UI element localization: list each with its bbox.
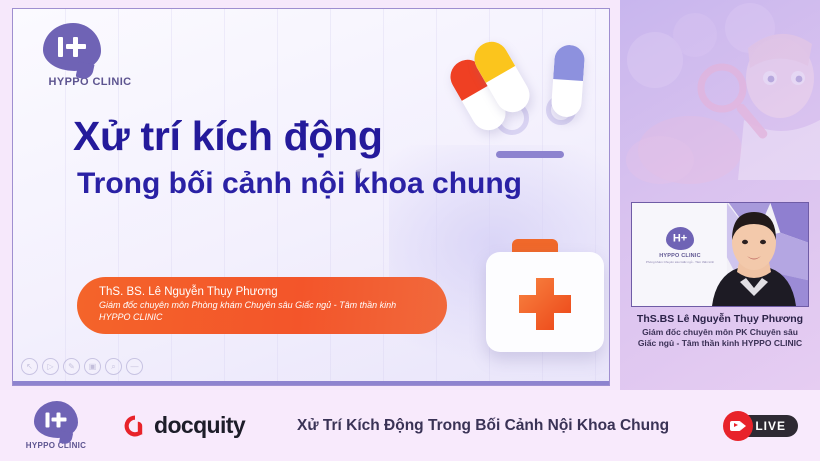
live-badge: LIVE: [729, 415, 798, 437]
live-camera-icon: [723, 411, 753, 441]
capsule-blue-icon: [551, 44, 586, 118]
eraser-tool-icon[interactable]: ▣: [84, 358, 101, 375]
pills-illustration: [443, 29, 610, 139]
session-title: Xử Trí Kích Động Trong Bối Cảnh Nội Khoa…: [297, 417, 729, 435]
presenter-caption: ThS.BS Lê Nguyễn Thụy Phương Giám đốc ch…: [620, 313, 820, 350]
h-plus-mark-icon: H+: [673, 233, 687, 244]
slide-annotation-toolbar[interactable]: ↖ ▷ ✎ ▣ ⌕ —: [21, 358, 143, 375]
speaker-role-line-2: HYPPO CLINIC: [99, 311, 429, 323]
presenter-caption-role-2: Giấc ngủ - Tâm thần kinh HYPPO CLINIC: [620, 338, 820, 349]
presenter-video-figure: [706, 206, 802, 306]
presenter-caption-role-1: Giám đốc chuyên môn PK Chuyên sâu: [620, 327, 820, 338]
speaker-banner: ThS. BS. Lê Nguyễn Thụy Phương Giám đốc …: [77, 277, 447, 334]
hyppo-bubble-icon: [34, 401, 78, 438]
bottom-clinic-logo-label: HYPPO CLINIC: [8, 441, 104, 450]
slide-title: Xử trí kích động: [73, 113, 383, 160]
webinar-stream-screen: HYPPO CLINIC Xử trí kích động Trong bối …: [0, 0, 820, 461]
speaker-name: ThS. BS. Lê Nguyễn Thụy Phương: [99, 286, 429, 298]
hyppo-bubble-icon: [43, 23, 101, 71]
slide-clinic-logo-label: HYPPO CLINIC: [35, 76, 145, 88]
slide-stage: HYPPO CLINIC Xử trí kích động Trong bối …: [0, 0, 620, 390]
decorative-dash: [496, 151, 564, 158]
h-plus-mark-icon: [46, 412, 67, 427]
cursor-tool-icon[interactable]: ↖: [21, 358, 38, 375]
presentation-slide[interactable]: HYPPO CLINIC Xử trí kích động Trong bối …: [12, 8, 610, 386]
docquity-logo: docquity: [122, 412, 245, 439]
first-aid-kit-icon: [486, 239, 606, 359]
minus-tool-icon[interactable]: —: [126, 358, 143, 375]
speaker-role-line-1: Giám đốc chuyên môn Phòng khám Chuyên sâ…: [99, 299, 429, 311]
hyppo-bubble-icon: H+: [666, 227, 694, 250]
presenter-caption-name: ThS.BS Lê Nguyễn Thụy Phương: [620, 313, 820, 325]
pointer-tool-icon[interactable]: ▷: [42, 358, 59, 375]
webcam-video-tile[interactable]: H+ HYPPO CLINIC Phòng khám Chuyên sâu Gi…: [631, 202, 809, 307]
pen-tool-icon[interactable]: ✎: [63, 358, 80, 375]
slide-subtitle: Trong bối cảnh nội khoa chung: [77, 167, 522, 201]
bottom-bar: HYPPO CLINIC docquity Xử Trí Kích Động T…: [0, 390, 820, 461]
right-panel: H+ HYPPO CLINIC Phòng khám Chuyên sâu Gi…: [620, 0, 820, 390]
background-illustration: [620, 0, 820, 200]
slide-accent-bar: [13, 381, 609, 385]
zoom-tool-icon[interactable]: ⌕: [105, 358, 122, 375]
docquity-logo-text: docquity: [154, 412, 245, 439]
docquity-mark-icon: [122, 413, 148, 439]
bottom-clinic-logo: HYPPO CLINIC: [8, 401, 104, 450]
slide-clinic-logo: HYPPO CLINIC: [35, 23, 145, 88]
h-plus-mark-icon: [58, 37, 86, 57]
